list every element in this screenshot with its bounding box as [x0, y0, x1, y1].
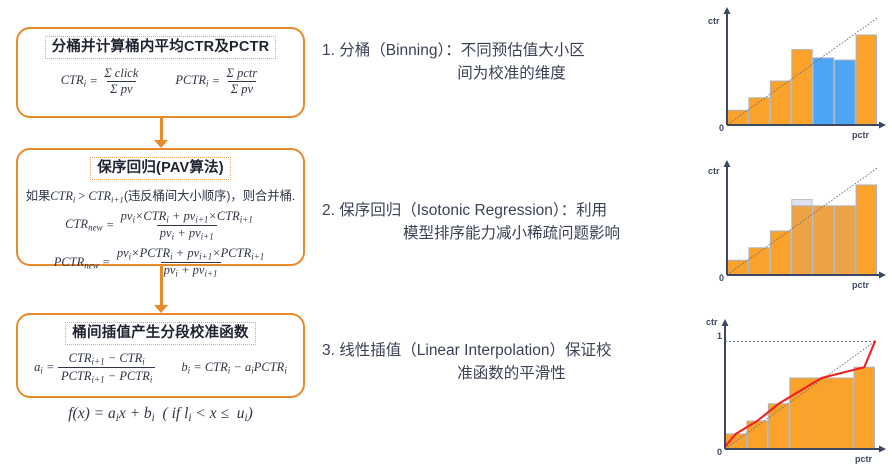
chart-interpolation-ylabel: ctr	[706, 317, 718, 327]
connector-arrowhead-1-icon	[154, 140, 168, 148]
chart-interpolation-bars	[726, 367, 875, 449]
formula-ctr-new-numerator: pvi×CTRi + pvi+1×CTRi+1	[118, 209, 256, 225]
formula-ctr-new: CTRnew= pvi×CTRi + pvi+1×CTRi+1 pvi + pv…	[24, 209, 297, 242]
pav-condition-note: (违反桶间大小顺序)，则合并桶.	[124, 189, 295, 203]
chart-isotonic-ylabel: ctr	[708, 166, 720, 176]
formula-pctr-new-denominator: pvi + pvi+1	[161, 262, 221, 279]
chart-isotonic-remnant	[792, 200, 812, 206]
flow-diagram-column: 分桶并计算桶内平均CTR及PCTR CTRi= Σ click Σ pv PCT…	[8, 0, 313, 471]
flow-box-interpolation: 桶间插值产生分段校准函数 ai= CTRi+1 − CTRi PCTRi+1 −…	[16, 313, 305, 398]
chart-isotonic-origin-label: 0	[719, 273, 724, 283]
flow-box-2-title-row: 保序回归(PAV算法)	[24, 157, 297, 180]
chart-binning: ctr pctr 0	[700, 2, 892, 145]
chart-isotonic-svg: ctr pctr 0	[700, 152, 892, 295]
final-piecewise-formula: f(x) = aix + bi ( if li < x ≤ ui)	[16, 405, 305, 424]
formula-ctr-definition: CTRi= Σ click Σ pv	[61, 66, 142, 96]
flow-box-binning: 分桶并计算桶内平均CTR及PCTR CTRi= Σ click Σ pv PCT…	[16, 27, 305, 118]
flow-box-2-title: 保序回归(PAV算法)	[90, 157, 231, 180]
charts-column: ctr pctr 0 ctr pctr 0 ctr pctr 0 1	[700, 0, 892, 471]
flow-box-3-title-row: 桶间插值产生分段校准函数	[24, 322, 297, 345]
formula-slope-denominator: PCTRi+1 − PCTRi	[58, 367, 155, 384]
flow-box-isotonic-regression: 保序回归(PAV算法) 如果CTRi > CTRi+1(违反桶间大小顺序)，则合…	[16, 148, 305, 266]
step-2-line-1: 2. 保序回归（Isotonic Regression）：利用	[322, 200, 687, 223]
step-item-3: 3. 线性插值（Linear Interpolation）保证校 准函数的平滑性	[322, 340, 687, 386]
chart-interpolation: ctr pctr 0 1	[700, 307, 892, 469]
chart-interpolation-ytick-1: 1	[717, 331, 722, 341]
formula-pctr-definition: PCTRi= Σ pctr Σ pv	[175, 66, 260, 96]
chart-binning-ylabel: ctr	[708, 16, 720, 26]
step-1-number: 1.	[322, 42, 335, 59]
pav-condition-line: 如果CTRi > CTRi+1(违反桶间大小顺序)，则合并桶.	[24, 186, 297, 204]
step-3-number: 3.	[322, 342, 335, 359]
flow-box-1-title-row: 分桶并计算桶内平均CTR及PCTR	[24, 36, 297, 59]
flow-box-3-formulas: ai= CTRi+1 − CTRi PCTRi+1 − PCTRi bi = C…	[24, 351, 297, 384]
step-1-line-2: 间为校准的维度	[322, 63, 687, 86]
chart-isotonic: ctr pctr 0	[700, 152, 892, 295]
formula-pctr-denominator: Σ pv	[228, 81, 256, 97]
chart-binning-svg: ctr pctr 0	[700, 2, 892, 145]
step-3-text-1: 线性插值（Linear Interpolation）保证校	[339, 342, 611, 359]
formula-ctr-numerator: Σ click	[101, 66, 141, 81]
formula-ctr-new-denominator: pvi + pvi+1	[157, 225, 217, 242]
step-2-number: 2.	[322, 202, 335, 219]
step-1-text-1: 分桶（Binning）：不同预估值大小区	[339, 42, 584, 59]
chart-binning-xlabel: pctr	[852, 130, 870, 140]
connector-arrowhead-2-icon	[154, 305, 168, 313]
step-3-line-2: 准函数的平滑性	[322, 363, 687, 386]
chart-interpolation-origin-label: 0	[717, 447, 722, 457]
formula-pctr-new-numerator: pvi×PCTRi + pvi+1×PCTRi+1	[114, 246, 268, 262]
step-item-2: 2. 保序回归（Isotonic Regression）：利用 模型排序能力减小…	[322, 200, 687, 246]
step-3-line-1: 3. 线性插值（Linear Interpolation）保证校	[322, 340, 687, 363]
pav-condition-prefix: 如果	[26, 189, 51, 203]
formula-slope-a: ai= CTRi+1 − CTRi PCTRi+1 − PCTRi	[34, 351, 155, 384]
step-2-text-1: 保序回归（Isotonic Regression）：利用	[339, 202, 607, 219]
formula-intercept-b: bi = CTRi − aiPCTRi	[181, 360, 286, 376]
flow-box-1-title: 分桶并计算桶内平均CTR及PCTR	[45, 36, 277, 59]
chart-interpolation-xlabel: pctr	[855, 454, 873, 464]
chart-isotonic-bars	[728, 185, 877, 275]
steps-text-column: 1. 分桶（Binning）：不同预估值大小区 间为校准的维度 2. 保序回归（…	[322, 0, 687, 471]
chart-binning-origin-label: 0	[719, 123, 724, 133]
chart-binning-bars	[728, 35, 877, 125]
flow-box-3-title: 桶间插值产生分段校准函数	[65, 322, 255, 345]
formula-pctr-numerator: Σ pctr	[224, 66, 261, 81]
formula-ctr-denominator: Σ pv	[107, 81, 135, 97]
step-item-1: 1. 分桶（Binning）：不同预估值大小区 间为校准的维度	[322, 40, 687, 86]
flow-box-1-formulas: CTRi= Σ click Σ pv PCTRi= Σ pctr Σ pv	[24, 66, 297, 96]
step-2-line-2: 模型排序能力减小稀疏问题影响	[322, 223, 687, 246]
step-1-line-1: 1. 分桶（Binning）：不同预估值大小区	[322, 40, 687, 63]
connector-line-1	[160, 118, 163, 141]
connector-line-2	[160, 266, 163, 306]
chart-isotonic-xlabel: pctr	[852, 280, 870, 290]
chart-interpolation-svg: ctr pctr 0 1	[700, 307, 892, 469]
formula-slope-numerator: CTRi+1 − CTRi	[66, 351, 148, 367]
